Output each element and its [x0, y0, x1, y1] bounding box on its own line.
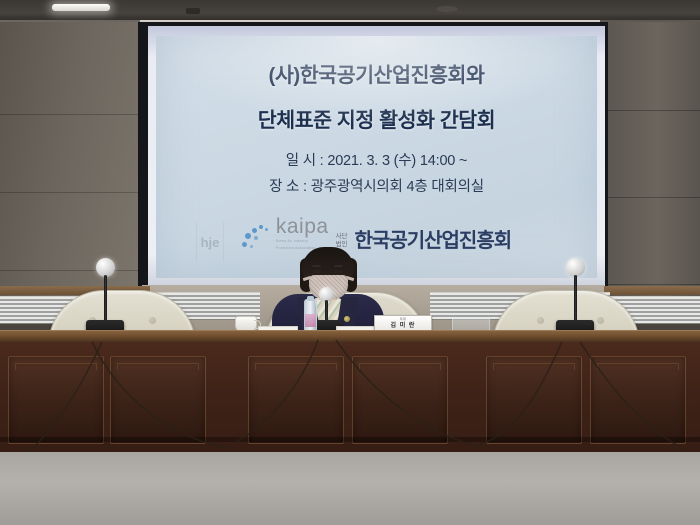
lapel-pin-icon: [344, 316, 350, 322]
logo-prefix-line1: 사단: [336, 233, 348, 241]
slide-title-line1: (사)한국공기산업진흥회와: [156, 58, 597, 88]
nameplate-position: 직위: [400, 317, 407, 321]
wood-trim-right: [604, 286, 700, 295]
ceiling: [0, 0, 700, 22]
logo-prefix: 사단 법인: [336, 233, 348, 248]
right-wall-panel: [604, 22, 700, 322]
ceiling-light-icon: [52, 4, 110, 11]
carpet-floor: [0, 452, 700, 525]
slide-title-line2: 단체표준 지정 활성화 간담회: [156, 103, 597, 133]
logo-wordmark-block: kaipa Korea Air Industry Promotion Assoc…: [276, 216, 329, 251]
logo-wordmark: kaipa: [276, 216, 329, 237]
speaker-brow-right: [334, 265, 343, 267]
logo-dots-icon: [242, 225, 272, 251]
microphone-stem: [325, 300, 328, 322]
water-bottle: [304, 299, 317, 334]
logo-korean-name: 한국공기산업진흥회: [355, 231, 512, 251]
left-wall-panel: [0, 22, 142, 322]
logo-wordmark-sub1: Korea Air Industry: [276, 239, 308, 244]
ceiling-vent-icon: [186, 8, 200, 14]
bottle-cap: [307, 296, 314, 301]
screen-watermark: hje: [196, 222, 224, 262]
microphone-stem: [104, 275, 107, 322]
ceiling-speaker-icon: [436, 6, 458, 12]
slide-meta-datetime: 일 시 : 2021. 3. 3 (수) 14:00 ~: [156, 148, 597, 174]
nameplate-name: 김 미 란: [391, 320, 416, 329]
speaker-brow-left: [312, 265, 321, 267]
slide-meta-venue: 장 소 : 광주광역시의회 4층 대회의실: [156, 174, 597, 200]
speaker-eye-left: [313, 270, 321, 273]
bottle-label: [305, 314, 316, 327]
conference-room-photo: (사)한국공기산업진흥회와 단체표준 지정 활성화 간담회 일 시 : 2021…: [0, 0, 700, 525]
microphone-cables: [0, 330, 700, 470]
speaker-eye-right: [334, 270, 342, 273]
microphone-stem: [574, 275, 577, 322]
slide-title: (사)한국공기산업진흥회와 단체표준 지정 활성화 간담회: [156, 58, 597, 133]
slide-meta: 일 시 : 2021. 3. 3 (수) 14:00 ~ 장 소 : 광주광역시…: [156, 148, 597, 200]
